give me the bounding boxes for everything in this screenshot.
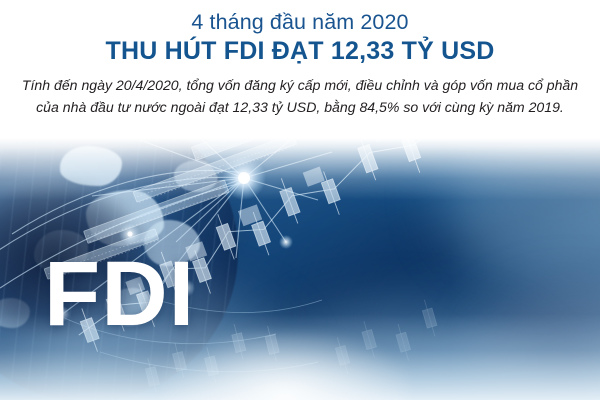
lede-paragraph: Tính đến ngày 20/4/2020, tổng vốn đăng k… [17,75,583,118]
kicker-title: 4 tháng đầu năm 2020 [0,9,600,36]
fdi-wordmark: FDI [44,248,195,340]
main-headline: THU HÚT FDI ĐẠT 12,33 TỶ USD [0,37,600,66]
infographic-root: FDI 4 tháng đầu năm 2020 THU HÚT FDI ĐẠT… [0,0,600,400]
header-block: 4 tháng đầu năm 2020 THU HÚT FDI ĐẠT 12,… [0,0,600,118]
